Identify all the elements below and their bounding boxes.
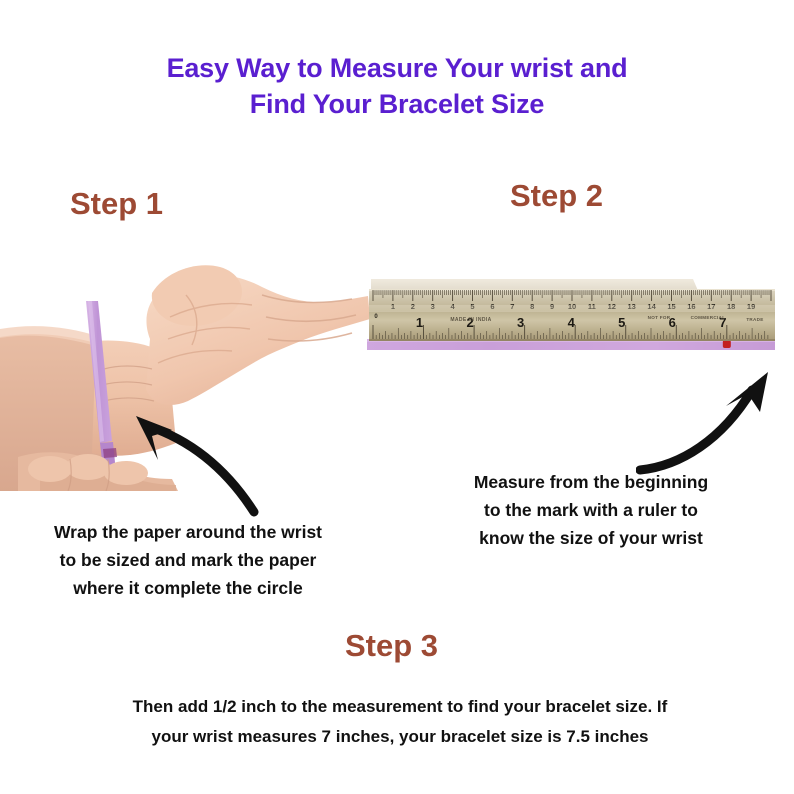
step-2-caption-line-2: to the mark with a ruler to <box>402 496 780 524</box>
page-title: Easy Way to Measure Your wrist and Find … <box>0 50 794 122</box>
step-2-caption: Measure from the beginning to the mark w… <box>402 468 780 552</box>
ruler-imprint-not-for: NOT FOR <box>648 315 671 320</box>
step-2-caption-line-1: Measure from the beginning <box>402 468 780 496</box>
ruler-cm-ticks <box>373 290 771 301</box>
step-2-heading: Step 2 <box>510 178 603 214</box>
svg-text:4: 4 <box>568 315 576 330</box>
step-1-heading: Step 1 <box>70 186 163 222</box>
svg-text:3: 3 <box>517 315 524 330</box>
step-2-caption-line-3: know the size of your wrist <box>402 524 780 552</box>
step-1-caption: Wrap the paper around the wrist to be si… <box>8 518 368 602</box>
page-title-line-2: Find Your Bracelet Size <box>0 86 794 122</box>
step-1-caption-line-1: Wrap the paper around the wrist <box>8 518 368 546</box>
step-3-heading: Step 3 <box>345 628 438 664</box>
ruler-over-paper-strip-photo: 12345678910111213141516171819 1234567 MA… <box>363 277 780 362</box>
step-3-caption-line-1: Then add 1/2 inch to the measurement to … <box>60 692 740 722</box>
page-title-line-1: Easy Way to Measure Your wrist and <box>0 50 794 86</box>
arrow-to-wrist-icon <box>118 408 288 528</box>
step-3-caption-line-2: your wrist measures 7 inches, your brace… <box>60 722 740 752</box>
step-1-caption-line-2: to be sized and mark the paper <box>8 546 368 574</box>
arrow-to-mark-icon <box>636 366 792 482</box>
step-3-caption: Then add 1/2 inch to the measurement to … <box>60 692 740 752</box>
ruler-imprint-trade: TRADE <box>746 317 763 322</box>
red-mark-on-strip <box>723 340 731 348</box>
ruler-imprint-made-in-india: MADE IN INDIA <box>450 317 491 323</box>
ruler-imprint-commercial: COMMERCIAL <box>691 315 726 320</box>
svg-text:1: 1 <box>416 315 423 330</box>
infographic-canvas: Easy Way to Measure Your wrist and Find … <box>0 0 794 794</box>
paper-strip-mark <box>103 448 117 458</box>
step-1-caption-line-3: where it complete the circle <box>8 574 368 602</box>
svg-text:5: 5 <box>618 315 625 330</box>
